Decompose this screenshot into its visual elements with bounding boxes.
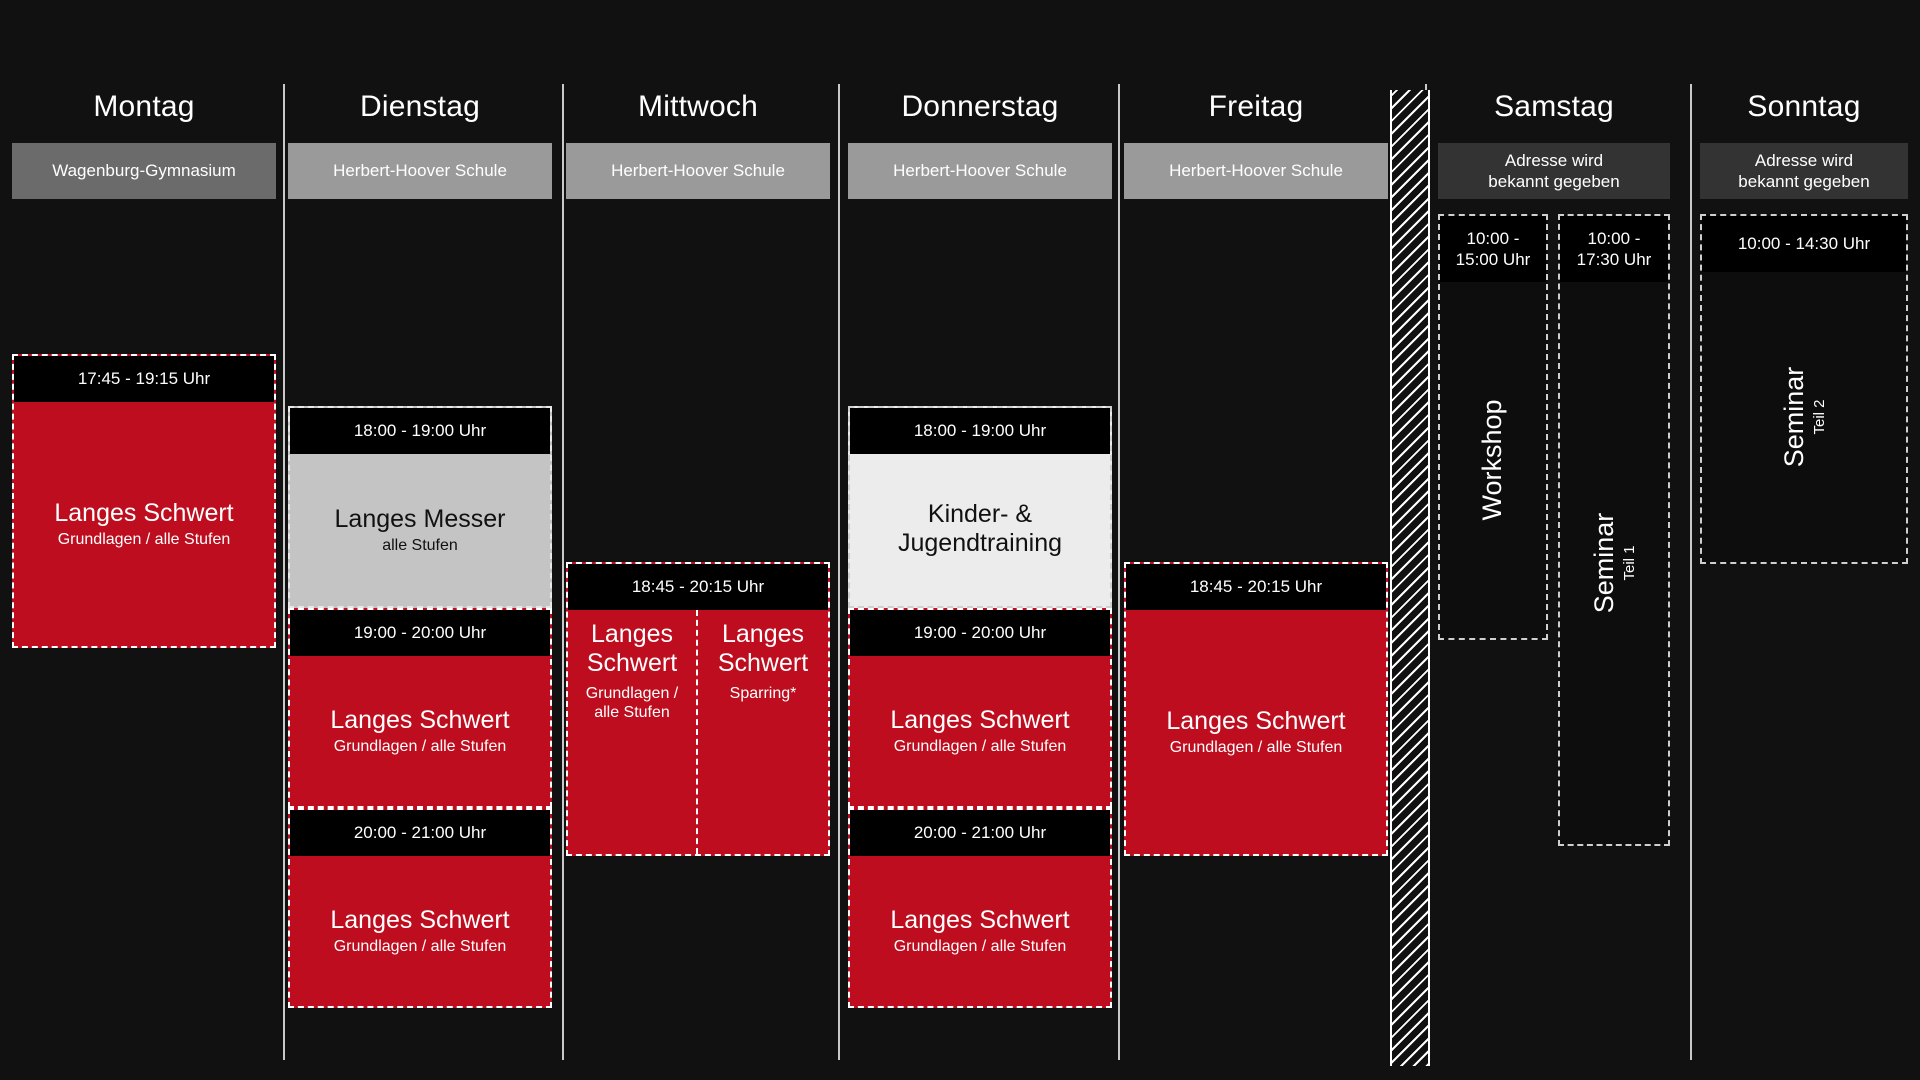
- column-rule-6: [1690, 84, 1692, 1060]
- event-title: Seminar: [1779, 367, 1810, 468]
- event-block[interactable]: 18:45 - 20:15 Uhr Langes Schwert Grundla…: [566, 562, 830, 856]
- day-column-thursday: Donnerstag Herbert-Hoover Schule 18:00 -…: [848, 0, 1112, 1080]
- event-time: 18:45 - 20:15 Uhr: [1126, 564, 1386, 610]
- event-split-half[interactable]: Langes Schwert Sparring*: [698, 610, 828, 854]
- day-title-saturday: Samstag: [1438, 90, 1670, 124]
- day-title-sunday: Sonntag: [1700, 90, 1908, 124]
- event-time: 18:00 - 19:00 Uhr: [290, 408, 550, 454]
- event-subtitle: Teil 2: [1811, 399, 1829, 434]
- day-column-wednesday: Mittwoch Herbert-Hoover Schule 18:45 - 2…: [566, 0, 830, 1080]
- event-subtitle: Grundlagen / alle Stufen: [1170, 738, 1343, 757]
- day-title-thursday: Donnerstag: [848, 90, 1112, 124]
- venue-tuesday: Herbert-Hoover Schule: [288, 143, 552, 199]
- event-vertical-label: Seminar Teil 2: [1779, 367, 1829, 468]
- event-block[interactable]: 20:00 - 21:00 Uhr Langes Schwert Grundla…: [288, 808, 552, 1008]
- event-title: Kinder- & Jugendtraining: [856, 500, 1104, 558]
- weekend-hatch-divider: [1390, 90, 1430, 1066]
- event-block[interactable]: 10:00 - 14:30 Uhr Seminar Teil 2: [1700, 214, 1908, 564]
- day-title-friday: Freitag: [1124, 90, 1388, 124]
- event-body: Langes Schwert Grundlagen / alle Stufen: [14, 402, 274, 646]
- column-rule-1: [283, 84, 285, 1060]
- venue-sunday: Adresse wird bekannt gegeben: [1700, 143, 1908, 199]
- event-title: Langes Schwert: [54, 499, 233, 528]
- event-title: Langes Schwert: [702, 620, 824, 678]
- event-block[interactable]: 18:45 - 20:15 Uhr Langes Schwert Grundla…: [1124, 562, 1388, 856]
- event-body: Langes Schwert Grundlagen / alle Stufen: [290, 856, 550, 1006]
- event-title: Langes Schwert: [330, 906, 509, 935]
- event-title: Langes Messer: [335, 505, 506, 534]
- event-block[interactable]: 18:00 - 19:00 Uhr Kinder- & Jugendtraini…: [848, 406, 1112, 608]
- event-block[interactable]: 20:00 - 21:00 Uhr Langes Schwert Grundla…: [848, 808, 1112, 1008]
- venue-thursday: Herbert-Hoover Schule: [848, 143, 1112, 199]
- event-split-half[interactable]: Langes Schwert Grundlagen / alle Stufen: [568, 610, 698, 854]
- event-subtitle: Grundlagen / alle Stufen: [58, 530, 231, 549]
- event-subtitle: Grundlagen / alle Stufen: [894, 737, 1067, 756]
- event-block[interactable]: 10:00 - 15:00 Uhr Workshop: [1438, 214, 1548, 640]
- event-subtitle: Grundlagen / alle Stufen: [334, 737, 507, 756]
- venue-saturday: Adresse wird bekannt gegeben: [1438, 143, 1670, 199]
- day-column-friday: Freitag Herbert-Hoover Schule 18:45 - 20…: [1124, 0, 1388, 1080]
- event-body: Seminar Teil 1: [1560, 282, 1668, 844]
- event-time: 20:00 - 21:00 Uhr: [290, 810, 550, 856]
- event-subtitle: Grundlagen / alle Stufen: [572, 684, 692, 722]
- event-title: Langes Schwert: [572, 620, 692, 678]
- event-time: 10:00 - 17:30 Uhr: [1560, 216, 1668, 282]
- event-subtitle: Grundlagen / alle Stufen: [894, 937, 1067, 956]
- day-title-tuesday: Dienstag: [288, 90, 552, 124]
- event-body: Langes Schwert Grundlagen / alle Stufen: [1126, 610, 1386, 854]
- event-block[interactable]: 17:45 - 19:15 Uhr Langes Schwert Grundla…: [12, 354, 276, 648]
- event-time: 10:00 - 14:30 Uhr: [1702, 216, 1906, 272]
- event-vertical-label: Seminar Teil 1: [1589, 513, 1639, 614]
- event-time: 17:45 - 19:15 Uhr: [14, 356, 274, 402]
- event-time: 18:45 - 20:15 Uhr: [568, 564, 828, 610]
- day-column-tuesday: Dienstag Herbert-Hoover Schule 18:00 - 1…: [288, 0, 552, 1080]
- event-time: 19:00 - 20:00 Uhr: [290, 610, 550, 656]
- day-title-wednesday: Mittwoch: [566, 90, 830, 124]
- event-subtitle: Teil 1: [1621, 545, 1639, 580]
- event-time: 19:00 - 20:00 Uhr: [850, 610, 1110, 656]
- event-block[interactable]: 19:00 - 20:00 Uhr Langes Schwert Grundla…: [288, 608, 552, 808]
- event-subtitle: alle Stufen: [382, 536, 458, 555]
- event-subtitle: Sparring*: [730, 684, 797, 703]
- event-subtitle: Grundlagen / alle Stufen: [334, 937, 507, 956]
- column-rule-2: [562, 84, 564, 1060]
- venue-friday: Herbert-Hoover Schule: [1124, 143, 1388, 199]
- event-title: Workshop: [1477, 399, 1508, 520]
- event-body: Kinder- & Jugendtraining: [850, 454, 1110, 606]
- column-rule-4: [1118, 84, 1120, 1060]
- event-title: Langes Schwert: [890, 906, 1069, 935]
- event-title: Langes Schwert: [890, 706, 1069, 735]
- event-body: Langes Schwert Grundlagen / alle Stufen: [850, 856, 1110, 1006]
- day-title-monday: Montag: [12, 90, 276, 124]
- event-title: Langes Schwert: [1166, 707, 1345, 736]
- event-block[interactable]: 19:00 - 20:00 Uhr Langes Schwert Grundla…: [848, 608, 1112, 808]
- event-body: Langes Messer alle Stufen: [290, 454, 550, 606]
- event-vertical-label: Workshop: [1477, 399, 1509, 520]
- day-column-sunday: Sonntag Adresse wird bekannt gegeben 10:…: [1700, 0, 1908, 1080]
- event-title: Seminar: [1589, 513, 1620, 614]
- event-block[interactable]: 10:00 - 17:30 Uhr Seminar Teil 1: [1558, 214, 1670, 846]
- weekly-schedule-board: Montag Wagenburg-Gymnasium 17:45 - 19:15…: [0, 0, 1920, 1080]
- day-column-monday: Montag Wagenburg-Gymnasium 17:45 - 19:15…: [12, 0, 276, 1080]
- event-time: 20:00 - 21:00 Uhr: [850, 810, 1110, 856]
- event-body: Langes Schwert Grundlagen / alle Stufen: [290, 656, 550, 806]
- event-split-body: Langes Schwert Grundlagen / alle Stufen …: [568, 610, 828, 854]
- event-time: 10:00 - 15:00 Uhr: [1440, 216, 1546, 282]
- event-body: Langes Schwert Grundlagen / alle Stufen: [850, 656, 1110, 806]
- venue-wednesday: Herbert-Hoover Schule: [566, 143, 830, 199]
- event-time: 18:00 - 19:00 Uhr: [850, 408, 1110, 454]
- venue-monday: Wagenburg-Gymnasium: [12, 143, 276, 199]
- event-body: Workshop: [1440, 282, 1546, 638]
- event-title: Langes Schwert: [330, 706, 509, 735]
- event-block[interactable]: 18:00 - 19:00 Uhr Langes Messer alle Stu…: [288, 406, 552, 608]
- event-body: Seminar Teil 2: [1702, 272, 1906, 562]
- column-rule-3: [838, 84, 840, 1060]
